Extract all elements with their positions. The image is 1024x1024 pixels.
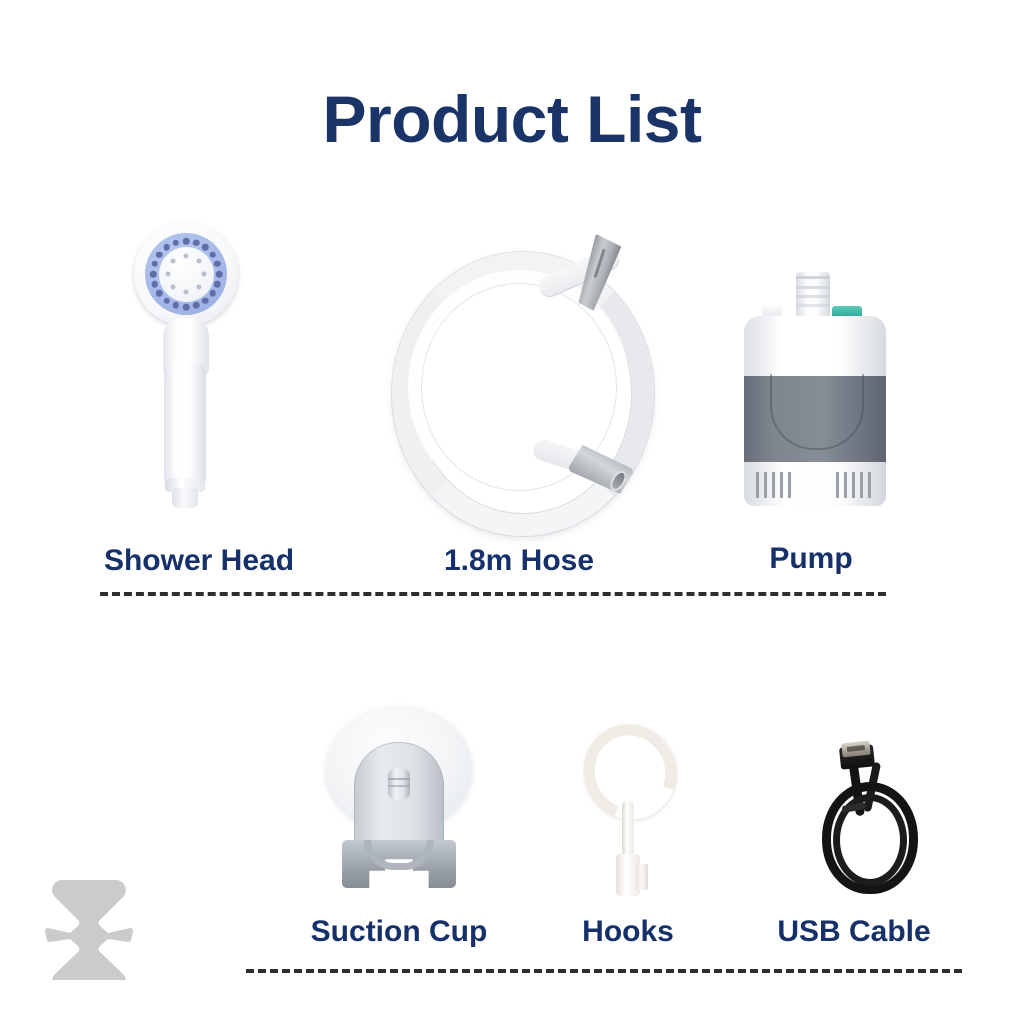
pump-upper-housing: [744, 316, 886, 378]
shower-nozzle-dot: [156, 251, 163, 258]
shower-nozzle-dot: [193, 239, 200, 246]
shower-nozzle-dot: [183, 238, 190, 245]
shower-center-nozzle-dot: [171, 284, 176, 289]
shower-nozzle-dot: [216, 271, 223, 278]
shower-nozzle-dot: [150, 271, 157, 278]
shower-nozzle-dot: [214, 281, 221, 288]
product-image-suction-cup: [316, 706, 482, 898]
product-image-shower-head: [120, 222, 252, 512]
pump-grey-body: [744, 376, 886, 464]
divider-bottom: [246, 969, 962, 973]
shower-head-handle: [164, 362, 206, 486]
product-image-hooks: [578, 724, 688, 900]
hook-stem: [622, 800, 634, 862]
suction-cup-stud: [388, 768, 410, 800]
shower-center-nozzle-dot: [184, 254, 189, 259]
shower-nozzle-dot: [202, 244, 209, 251]
shower-nozzle-dot: [173, 239, 180, 246]
pump-vent-right: [836, 472, 874, 498]
shower-nozzle-dot: [209, 251, 216, 258]
pump-outlet-spout: [796, 272, 830, 320]
shower-nozzle-dot: [156, 290, 163, 297]
shower-nozzle-dot: [202, 297, 209, 304]
shower-head-tip: [172, 488, 198, 508]
product-list-page: Product List Shower Head 1.8m Hose Pump: [0, 0, 1024, 1024]
label-hose: 1.8m Hose: [366, 546, 672, 576]
shower-nozzle-dot: [193, 302, 200, 309]
label-pump: Pump: [688, 544, 934, 574]
pump-base: [744, 462, 886, 506]
shower-nozzle-dot: [151, 261, 158, 268]
product-image-usb-cable: [812, 742, 938, 904]
shower-nozzle-dot: [209, 290, 216, 297]
pump-vent-left: [756, 472, 794, 498]
shower-center-nozzle-dot: [196, 284, 201, 289]
shower-center-nozzle-dot: [171, 259, 176, 264]
shower-nozzle-dot: [163, 244, 170, 251]
shower-head-face: [134, 222, 238, 326]
shower-nozzle-dot: [163, 297, 170, 304]
page-title: Product List: [0, 86, 1024, 152]
shower-nozzle-dot: [183, 304, 190, 311]
shower-center-nozzle-dot: [184, 290, 189, 295]
shower-center-nozzle-dot: [196, 259, 201, 264]
label-hooks: Hooks: [530, 917, 726, 947]
shower-center-nozzle-dot: [202, 272, 207, 277]
label-suction-cup: Suction Cup: [246, 917, 552, 947]
label-usb-cable: USB Cable: [706, 917, 1002, 947]
brand-watermark-icon: [44, 872, 134, 980]
label-shower-head: Shower Head: [46, 546, 352, 576]
divider-top: [100, 592, 886, 596]
hook-tab: [636, 864, 648, 890]
shower-center-nozzle-dot: [166, 272, 171, 277]
shower-nozzle-dot: [214, 261, 221, 268]
shower-nozzle-dot: [173, 302, 180, 309]
usb-a-connector: [841, 741, 870, 758]
product-image-pump: [740, 272, 890, 512]
product-image-hose: [386, 240, 652, 512]
shower-nozzle-dot: [151, 281, 158, 288]
